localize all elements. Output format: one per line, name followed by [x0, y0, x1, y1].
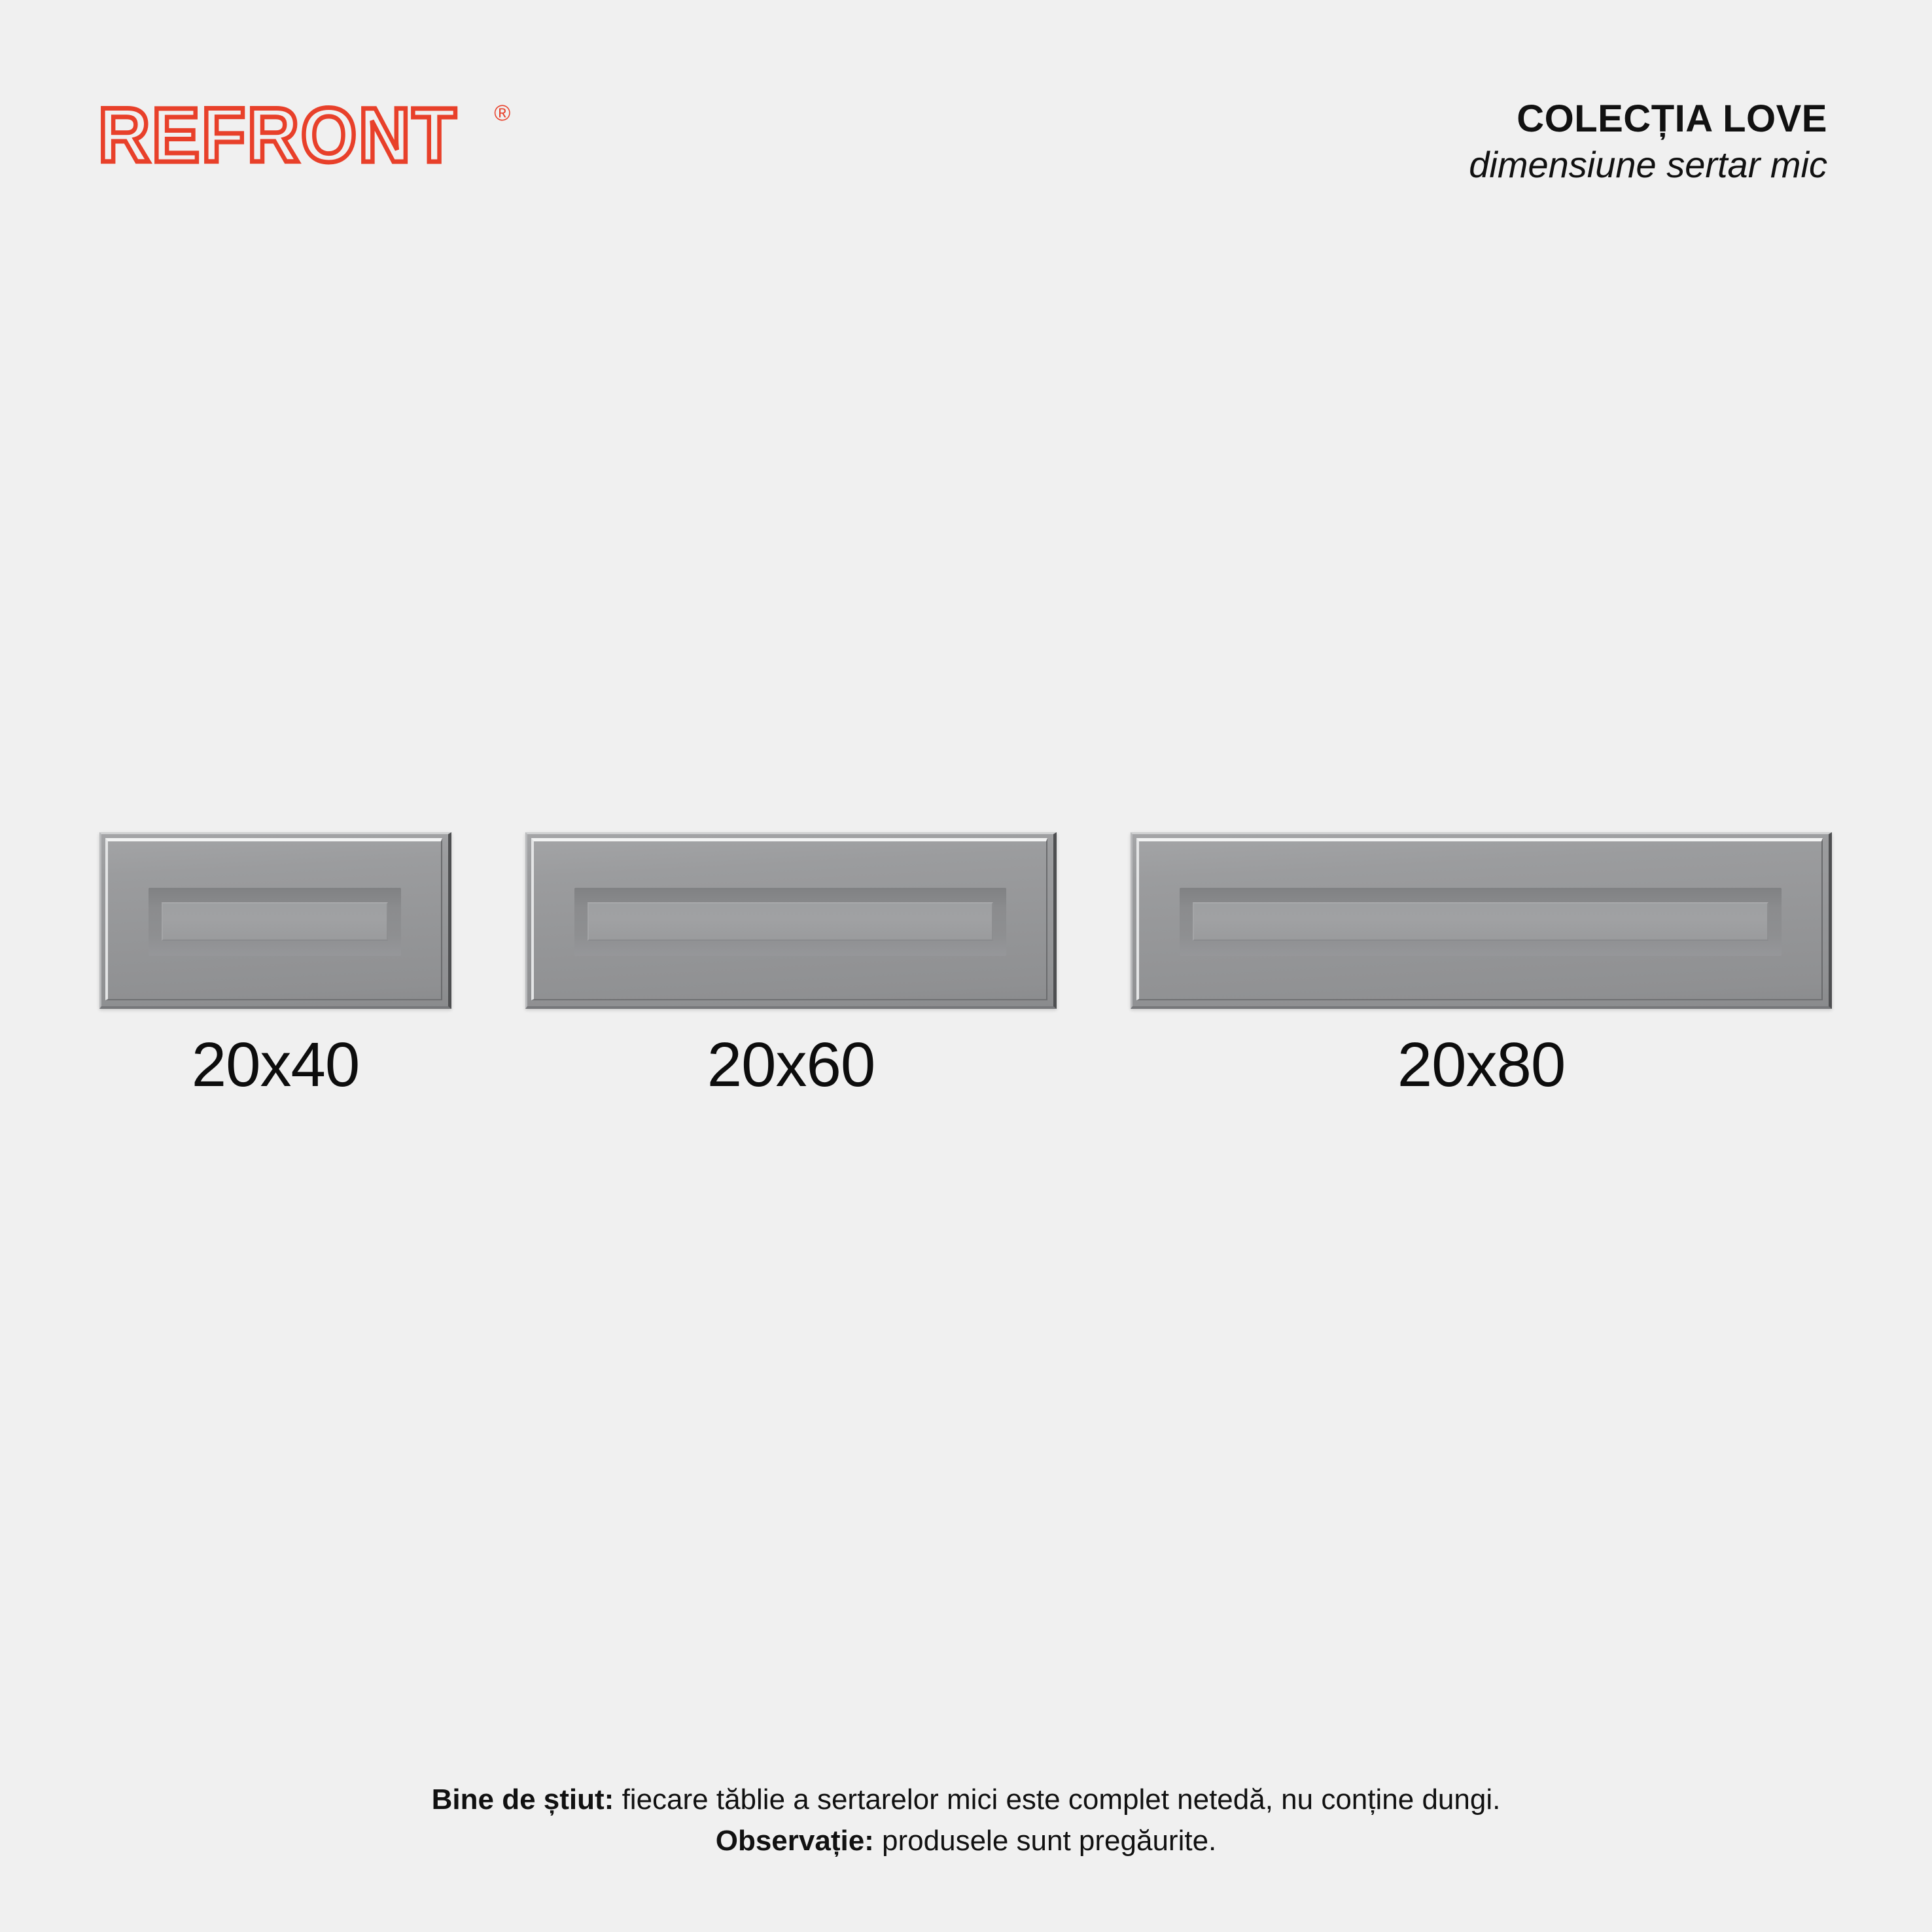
drawer-recess-20x60: [574, 888, 1006, 956]
collection-subtitle: dimensiune sertar mic: [1469, 143, 1827, 186]
drawer-recess-face-20x40: [162, 902, 388, 941]
footer-note-1-text: fiecare tăblie a sertarelor mici este co…: [614, 1783, 1500, 1816]
footer-note-line-1: Bine de știut: fiecare tăblie a sertarel…: [0, 1780, 1932, 1820]
drawer-recess-face-20x80: [1193, 902, 1768, 941]
drawer-panel-group-20x60[interactable]: 20x60: [525, 832, 1057, 1097]
footer-note-1-label: Bine de știut:: [432, 1783, 614, 1816]
drawer-recess-face-20x60: [588, 902, 993, 941]
footer-note-2-label: Observație:: [716, 1825, 874, 1857]
drawer-panel-group-20x80[interactable]: 20x80: [1131, 832, 1832, 1097]
drawer-recess-20x40: [149, 888, 401, 956]
brand-logo[interactable]: REFRONT ®: [98, 97, 510, 174]
drawer-recess-20x80: [1180, 888, 1782, 956]
collection-title: COLECȚIA LOVE: [1469, 98, 1827, 141]
registered-trademark-icon: ®: [494, 102, 510, 124]
drawer-front-20x80[interactable]: [1131, 832, 1832, 1009]
page-footer: Bine de știut: fiecare tăblie a sertarel…: [0, 1780, 1932, 1861]
drawer-front-20x60[interactable]: [525, 832, 1057, 1009]
footer-note-2-text: produsele sunt pregăurite.: [874, 1825, 1216, 1857]
brand-logo-text: REFRONT: [98, 97, 458, 174]
drawer-size-label-20x60: 20x60: [525, 1034, 1057, 1097]
page-header: REFRONT ® COLECȚIA LOVE dimensiune serta…: [0, 0, 1932, 216]
drawer-size-label-20x40: 20x40: [99, 1034, 451, 1097]
drawer-panels-row: 20x40 20x60 20x80: [0, 832, 1932, 1146]
footer-note-line-2: Observație: produsele sunt pregăurite.: [0, 1821, 1932, 1861]
drawer-front-20x40[interactable]: [99, 832, 451, 1009]
collection-heading: COLECȚIA LOVE dimensiune sertar mic: [1469, 98, 1827, 186]
drawer-size-label-20x80: 20x80: [1131, 1034, 1832, 1097]
drawer-panel-group-20x40[interactable]: 20x40: [99, 832, 451, 1097]
